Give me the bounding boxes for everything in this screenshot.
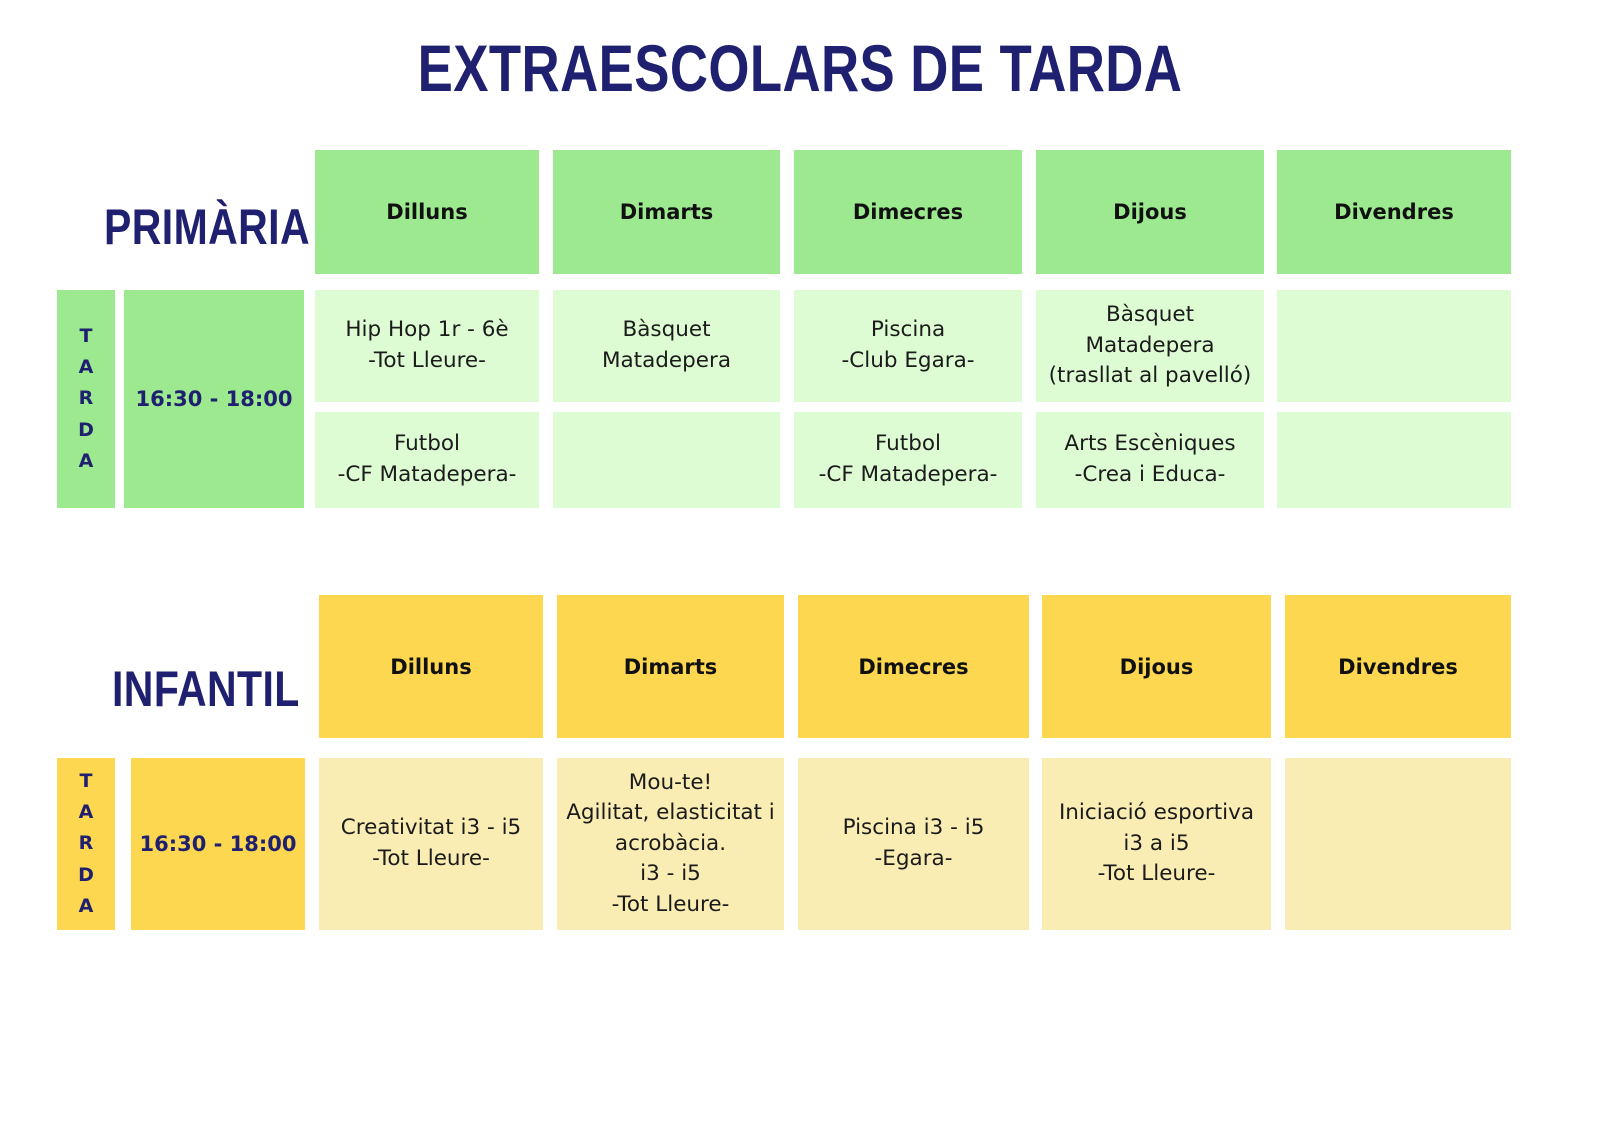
day-header-dimecres-infantil: Dimecres — [798, 595, 1029, 738]
tarda-letter: R — [79, 383, 94, 414]
activity-cell — [1277, 412, 1511, 508]
activity-cell: Creativitat i3 - i5 -Tot Lleure- — [319, 758, 543, 930]
activity-cell: Bàsquet Matadepera (trasllat al pavelló) — [1036, 290, 1264, 402]
day-header-dimecres-primaria: Dimecres — [794, 150, 1022, 274]
tarda-letter: A — [79, 352, 94, 383]
tarda-letter: A — [79, 446, 94, 477]
day-header-dijous-primaria: Dijous — [1036, 150, 1264, 274]
tarda-letter: D — [78, 860, 94, 891]
tarda-letter: R — [79, 828, 94, 859]
activity-cell: Futbol -CF Matadepera- — [315, 412, 539, 508]
section-heading-primaria: PRIMÀRIA — [104, 198, 310, 256]
tarda-letter: A — [79, 797, 94, 828]
activity-cell: Bàsquet Matadepera — [553, 290, 780, 402]
activity-cell — [1277, 290, 1511, 402]
tarda-letter: D — [78, 415, 94, 446]
activity-cell: Arts Escèniques -Crea i Educa- — [1036, 412, 1264, 508]
activity-cell: Futbol -CF Matadepera- — [794, 412, 1022, 508]
time-slot-infantil: 16:30 - 18:00 — [131, 758, 305, 930]
section-heading-infantil: INFANTIL — [112, 660, 300, 718]
time-slot-primaria: 16:30 - 18:00 — [124, 290, 304, 508]
day-header-divendres-primaria: Divendres — [1277, 150, 1511, 274]
tarda-letter: A — [79, 891, 94, 922]
day-header-dilluns-infantil: Dilluns — [319, 595, 543, 738]
day-header-dijous-infantil: Dijous — [1042, 595, 1271, 738]
activity-cell: Piscina i3 - i5 -Egara- — [798, 758, 1029, 930]
activity-cell — [553, 412, 780, 508]
activity-cell: Hip Hop 1r - 6è -Tot Lleure- — [315, 290, 539, 402]
tarda-letter: T — [80, 321, 93, 352]
activity-cell: Iniciació esportiva i3 a i5 -Tot Lleure- — [1042, 758, 1271, 930]
page-title: EXTRAESCOLARS DE TARDA — [160, 34, 1440, 103]
day-header-dimarts-primaria: Dimarts — [553, 150, 780, 274]
tarda-label-primaria: T A R D A — [57, 290, 115, 508]
tarda-letter: T — [80, 766, 93, 797]
activity-cell: Piscina -Club Egara- — [794, 290, 1022, 402]
activity-cell: Mou-te! Agilitat, elasticitat i acrobàci… — [557, 758, 784, 930]
activity-cell — [1285, 758, 1511, 930]
tarda-label-infantil: T A R D A — [57, 758, 115, 930]
day-header-dilluns-primaria: Dilluns — [315, 150, 539, 274]
day-header-dimarts-infantil: Dimarts — [557, 595, 784, 738]
day-header-divendres-infantil: Divendres — [1285, 595, 1511, 738]
